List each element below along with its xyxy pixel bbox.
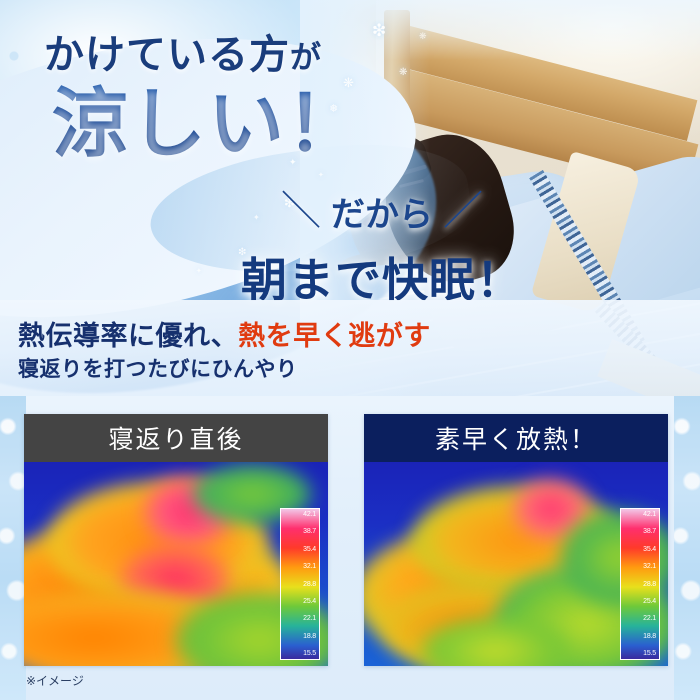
thermal-panel-after-header: 素早く放熱！ <box>364 414 668 462</box>
headline-line-2: 涼しい！ <box>52 62 364 172</box>
ice-edge-left <box>0 396 26 700</box>
scale-tick: 42.1 <box>281 511 319 518</box>
snowflake-icon: ❋ <box>399 68 407 78</box>
copy-band-line-1: 熱伝導率に優れ、熱を早く逃がす <box>18 314 431 353</box>
temperature-scale-before: 42.138.735.432.128.825.422.118.815.5 <box>280 508 320 660</box>
snowflake-icon: ✦ <box>196 268 202 275</box>
footnote: ※イメージ <box>26 672 84 689</box>
copy-band: 熱伝導率に優れ、熱を早く逃がす 寝返りを打つたびにひんやり <box>0 300 700 396</box>
slash-left: ＼ <box>281 178 321 236</box>
ice-edge-right <box>674 396 700 700</box>
scale-tick: 22.1 <box>281 615 319 622</box>
scale-tick: 32.1 <box>281 563 319 570</box>
advertisement-root: ❇❋❅❋✦❇✦✦❇✦❋ かけている方が 涼しい！ ＼だから／ 朝まで快眠！ 熱伝… <box>0 0 700 700</box>
copy-band-line-1-plain: 熱伝導率に優れ、 <box>18 321 238 351</box>
snowflake-icon: ❇ <box>372 22 386 39</box>
copy-band-line-1-accent: 熱を早く逃がす <box>238 321 431 351</box>
thermal-comparison-section: 寝返り直後 42.138.735.432.128.825.422.118.815… <box>0 396 700 700</box>
scale-tick: 35.4 <box>281 546 319 553</box>
scale-tick: 18.8 <box>281 633 319 640</box>
scale-tick: 15.5 <box>621 650 659 657</box>
sub-headline: ＼だから／ 朝まで快眠！ <box>232 180 532 310</box>
sub-headline-top-text: だから <box>331 197 433 234</box>
thermal-image-before: 42.138.735.432.128.825.422.118.815.5 <box>24 462 328 666</box>
scale-tick: 38.7 <box>621 528 659 535</box>
thermal-panel-before-header: 寝返り直後 <box>24 414 328 462</box>
slash-right: ／ <box>443 178 483 236</box>
thermal-panel-before: 寝返り直後 42.138.735.432.128.825.422.118.815… <box>24 414 328 666</box>
scale-tick: 28.8 <box>281 581 319 588</box>
scale-tick: 28.8 <box>621 581 659 588</box>
scale-tick: 18.8 <box>621 633 659 640</box>
scale-tick: 38.7 <box>281 528 319 535</box>
copy-band-line-2: 寝返りを打つたびにひんやり <box>18 353 298 383</box>
scale-tick: 25.4 <box>281 598 319 605</box>
scale-tick: 32.1 <box>621 563 659 570</box>
snowflake-icon: ❋ <box>419 32 427 41</box>
scale-tick: 22.1 <box>621 615 659 622</box>
thermal-image-after: 42.138.735.432.128.825.422.118.815.5 <box>364 462 668 666</box>
sub-headline-top: ＼だから／ <box>232 180 532 238</box>
scale-tick: 25.4 <box>621 598 659 605</box>
thermal-panel-after: 素早く放熱！ 42.138.735.432.128.825.422.118.81… <box>364 414 668 666</box>
scale-tick: 15.5 <box>281 650 319 657</box>
temperature-scale-after: 42.138.735.432.128.825.422.118.815.5 <box>620 508 660 660</box>
scale-tick: 35.4 <box>621 546 659 553</box>
scale-tick: 42.1 <box>621 511 659 518</box>
